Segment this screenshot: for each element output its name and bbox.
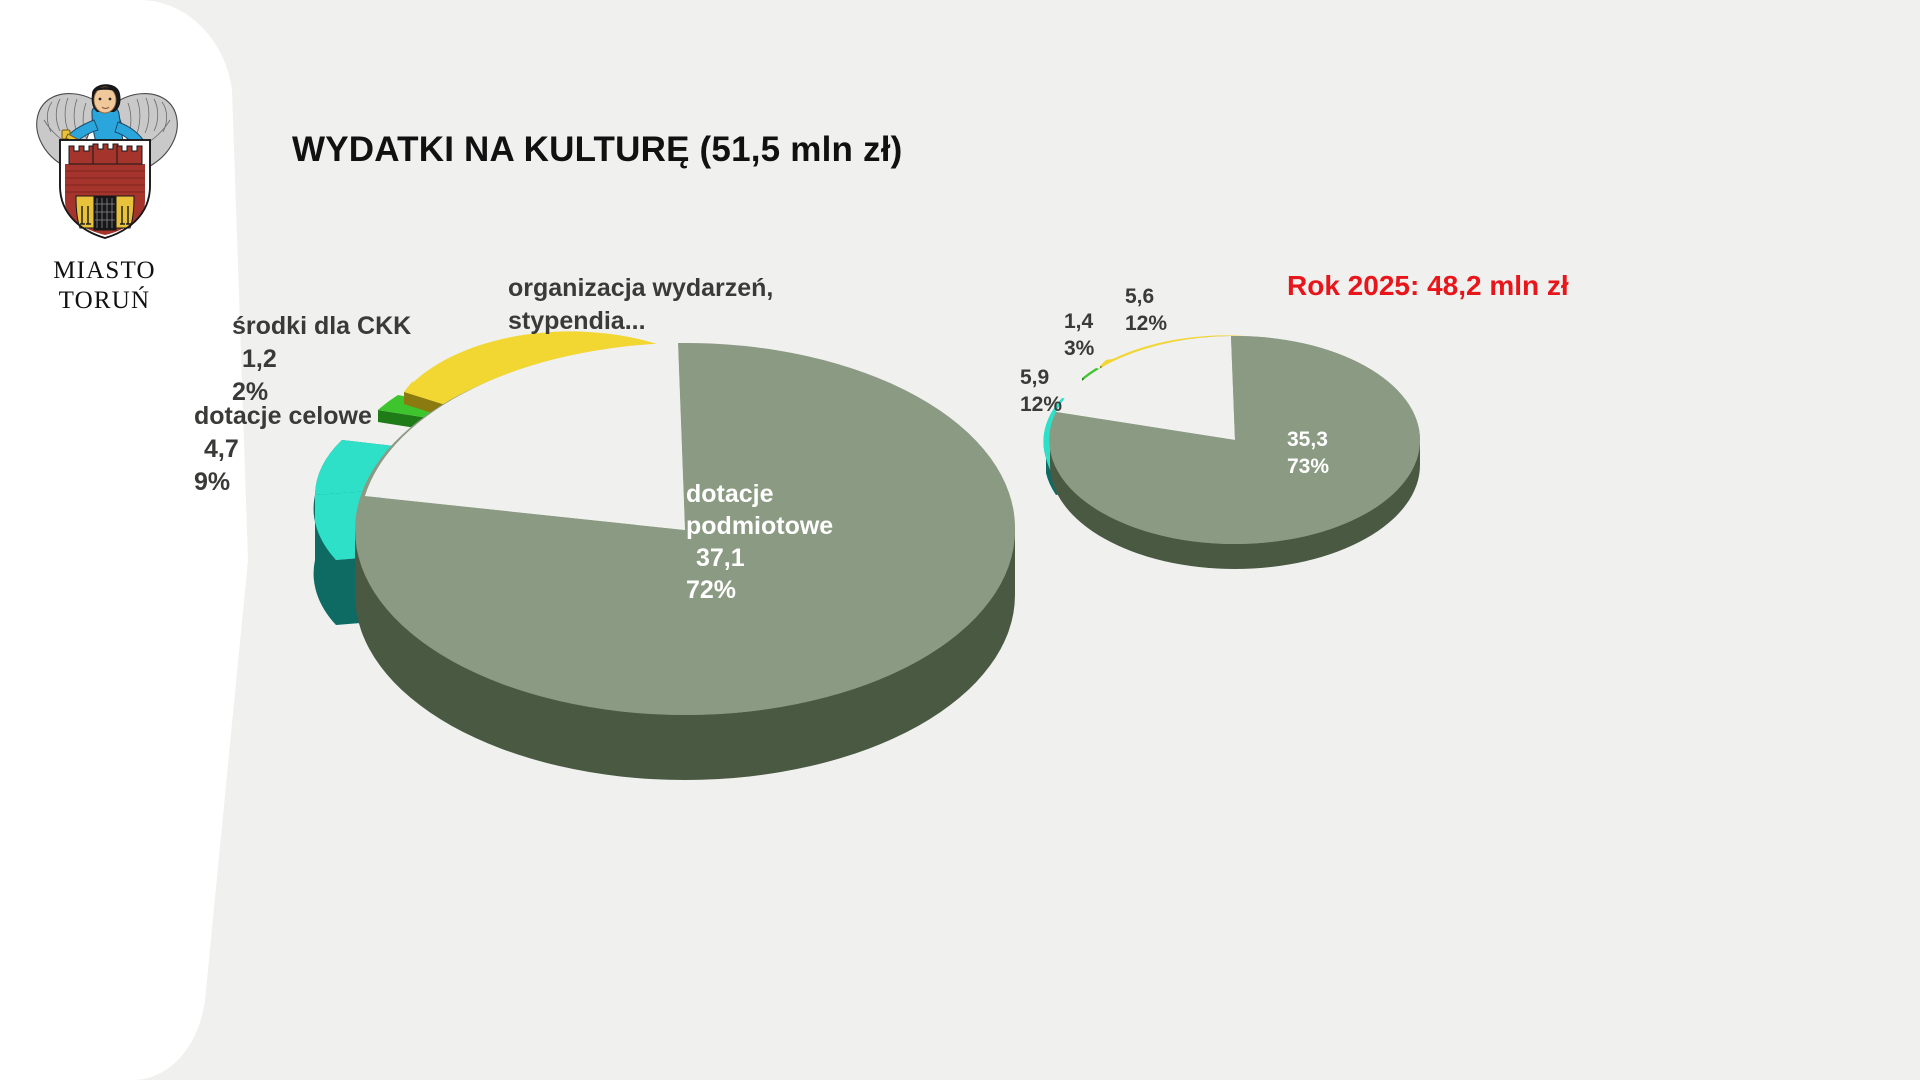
label-srodki-dla-ckk-value: 1,2 bbox=[232, 343, 411, 376]
label-r-celowe-value: 5,9 bbox=[1020, 364, 1062, 391]
label-dotacje-celowe-value: 4,7 bbox=[194, 433, 372, 466]
logo-wordmark-line2: TORUŃ bbox=[22, 286, 187, 316]
label-dotacje-podmiotowe-percent: 72% bbox=[686, 574, 833, 606]
label-r-organizacja-value: 5,6 bbox=[1125, 283, 1167, 310]
label-r-celowe-percent: 12% bbox=[1020, 391, 1062, 418]
label-dotacje-celowe: dotacje celowe 4,7 9% bbox=[194, 400, 372, 499]
label-dotacje-podmiotowe-line2: podmiotowe bbox=[686, 510, 833, 542]
label-dotacje-podmiotowe-value: 37,1 bbox=[686, 542, 833, 574]
logo-wordmark: MIASTO TORUŃ bbox=[22, 256, 187, 316]
label-dotacje-celowe-name: dotacje celowe bbox=[194, 400, 372, 433]
label-r-dotacje-podmiotowe: 35,3 73% bbox=[1287, 426, 1329, 480]
label-organizacja-wydarzen-line2: stypendia... bbox=[508, 305, 773, 338]
label-r-dotacje-celowe: 5,9 12% bbox=[1020, 364, 1062, 418]
label-r-srodki-percent: 3% bbox=[1064, 335, 1094, 362]
label-r-organizacja-percent: 12% bbox=[1125, 310, 1167, 337]
label-r-srodki-dla-ckk: 1,4 3% bbox=[1064, 308, 1094, 362]
label-r-srodki-value: 1,4 bbox=[1064, 308, 1094, 335]
slice-r-dotacje-podmiotowe[interactable] bbox=[1049, 336, 1420, 569]
page-title: WYDATKI NA KULTURĘ (51,5 mln zł) bbox=[292, 130, 902, 170]
label-r-organizacja-wydarzen: 5,6 12% bbox=[1125, 283, 1167, 337]
label-srodki-dla-ckk: środki dla CKK 1,2 2% bbox=[232, 310, 411, 409]
slice-dotacje-podmiotowe[interactable] bbox=[355, 343, 1015, 780]
logo-wordmark-line1: MIASTO bbox=[22, 256, 187, 286]
label-dotacje-podmiotowe: dotacje podmiotowe 37,1 72% bbox=[686, 478, 833, 606]
label-organizacja-wydarzen: organizacja wydarzeń, stypendia... bbox=[508, 272, 773, 338]
slide-canvas: MIASTO TORUŃ WYDATKI NA KULTURĘ (51,5 ml… bbox=[0, 0, 1920, 1080]
label-srodki-dla-ckk-name: środki dla CKK bbox=[232, 310, 411, 343]
label-r-podmiotowe-percent: 73% bbox=[1287, 453, 1329, 480]
label-dotacje-podmiotowe-line1: dotacje bbox=[686, 478, 833, 510]
year-2025-subtitle: Rok 2025: 48,2 mln zł bbox=[1287, 270, 1569, 302]
torun-coat-of-arms-icon bbox=[22, 68, 187, 258]
label-r-podmiotowe-value: 35,3 bbox=[1287, 426, 1329, 453]
logo: MIASTO TORUŃ bbox=[22, 68, 187, 338]
label-dotacje-celowe-percent: 9% bbox=[194, 466, 372, 499]
label-organizacja-wydarzen-line1: organizacja wydarzeń, bbox=[508, 272, 773, 305]
